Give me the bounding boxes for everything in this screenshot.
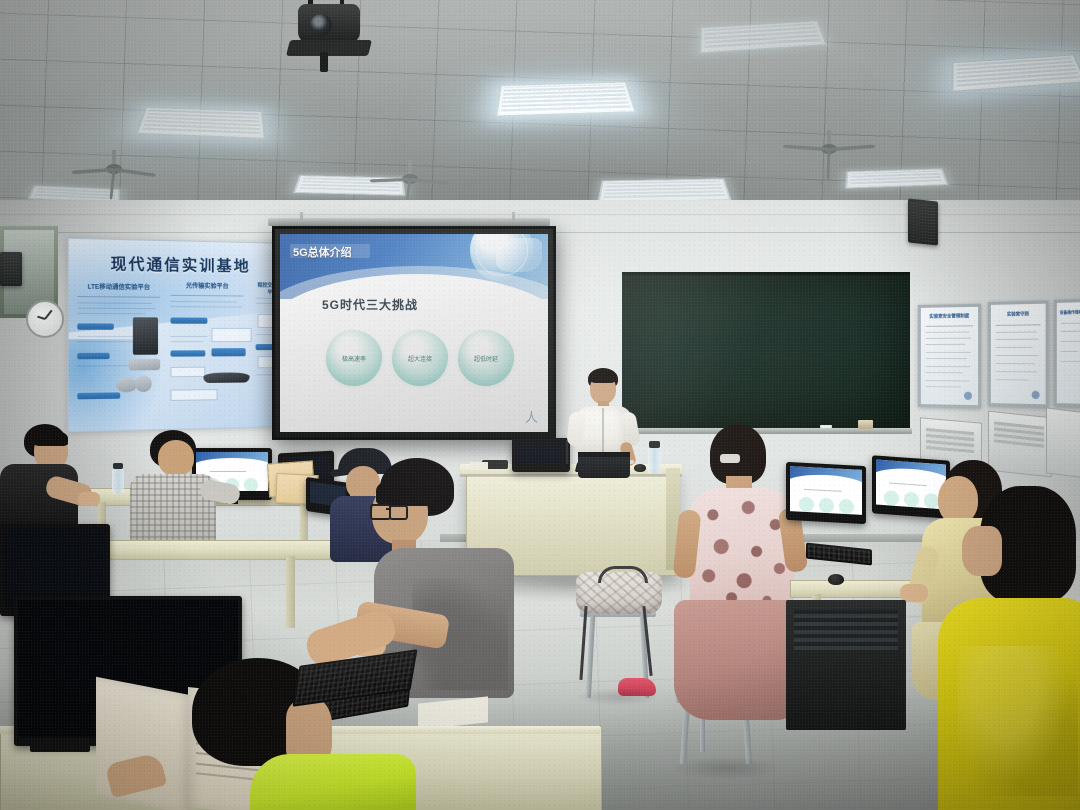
- wall-poster: 现代通信实训基地 LTE移动通信实验平台 光传输实验平台 程控交换实验平台: [68, 238, 290, 433]
- podium-paper: [470, 462, 488, 470]
- notice-board: 实验室守则: [988, 301, 1049, 408]
- classroom-photo: 现代通信实训基地 LTE移动通信实验平台 光传输实验平台 程控交换实验平台: [0, 0, 1080, 810]
- poster-device-image: [133, 317, 158, 354]
- slide-bubble: 超大连接: [392, 330, 448, 386]
- monitor-screen: [876, 460, 946, 510]
- notice-title: 实验室安全管理制度: [921, 313, 978, 320]
- podium-side-panel: [666, 468, 680, 570]
- light-panel: [293, 175, 405, 196]
- student-monitor: [872, 455, 950, 518]
- cabinet-louver: [926, 428, 974, 456]
- desk-leg: [952, 594, 961, 694]
- podium-monitor: [512, 438, 570, 472]
- stool-leg: [700, 702, 705, 752]
- slide-bubble-label: 超大连接: [408, 354, 432, 363]
- poster-device-image: [203, 372, 249, 383]
- poster-title: 现代通信实训基地: [69, 252, 289, 277]
- water-bottle: [112, 468, 124, 494]
- instructor-podium: [466, 470, 678, 576]
- bottle-cap: [113, 463, 123, 469]
- student-mouse: [828, 574, 844, 585]
- wall-speaker: [0, 252, 22, 286]
- podium-mouse: [634, 464, 646, 472]
- light-panel: [495, 81, 637, 116]
- podium-cable: [566, 440, 568, 464]
- slide-bubble: 极高速率: [326, 330, 382, 386]
- poster-device-image: [129, 359, 160, 371]
- notice-board: 设备操作规程: [1054, 299, 1080, 407]
- projection-screen: 5G总体介绍 5G时代三大挑战 极高速率 超大连接 超低时延 人: [272, 226, 556, 440]
- slide-bubble-label: 超低时延: [474, 354, 498, 363]
- slide-bubble: 超低时延: [458, 330, 514, 386]
- light-panel: [135, 107, 266, 139]
- chalk: [820, 425, 832, 428]
- projection-screen-housing: [268, 218, 550, 226]
- slide-logo: 人: [525, 407, 538, 426]
- notice-board: 实验室安全管理制度: [918, 304, 981, 409]
- blackboard-glare: [622, 272, 910, 430]
- student-monitor: [192, 448, 272, 500]
- water-bottle: [648, 446, 661, 474]
- student-monitor: [786, 462, 866, 524]
- wall-cabinet: [1046, 407, 1080, 478]
- poster-column-heading: LTE移动通信实验平台: [77, 281, 160, 291]
- blackboard-eraser: [858, 420, 873, 429]
- light-panel: [845, 168, 949, 188]
- wall-clock: [26, 300, 64, 338]
- ceiling-camera-assembly: [280, 0, 390, 72]
- slide-heading: 5G时代三大挑战: [322, 296, 418, 313]
- notice-title: 实验室守则: [991, 311, 1046, 318]
- equipment-rack-panel: [794, 610, 898, 650]
- cabinet-louver: [994, 421, 1044, 450]
- slide-surface: 5G总体介绍 5G时代三大挑战 极高速率 超大连接 超低时延 人: [280, 234, 548, 432]
- monitor-screen: [790, 466, 862, 515]
- slide-title: 5G总体介绍: [293, 244, 352, 260]
- bottle-cap: [649, 441, 660, 448]
- poster-column-heading: 光传输实验平台: [170, 280, 243, 290]
- desk-leg: [286, 556, 295, 628]
- student-laptop: [306, 477, 350, 517]
- wall-speaker: [908, 198, 938, 245]
- monitor-screen: [196, 452, 268, 491]
- podium-keyboard: [575, 462, 629, 472]
- notice-title: 设备操作规程: [1057, 309, 1080, 316]
- handbag-handle: [598, 566, 648, 583]
- slide-bubble-label: 极高速率: [342, 354, 366, 363]
